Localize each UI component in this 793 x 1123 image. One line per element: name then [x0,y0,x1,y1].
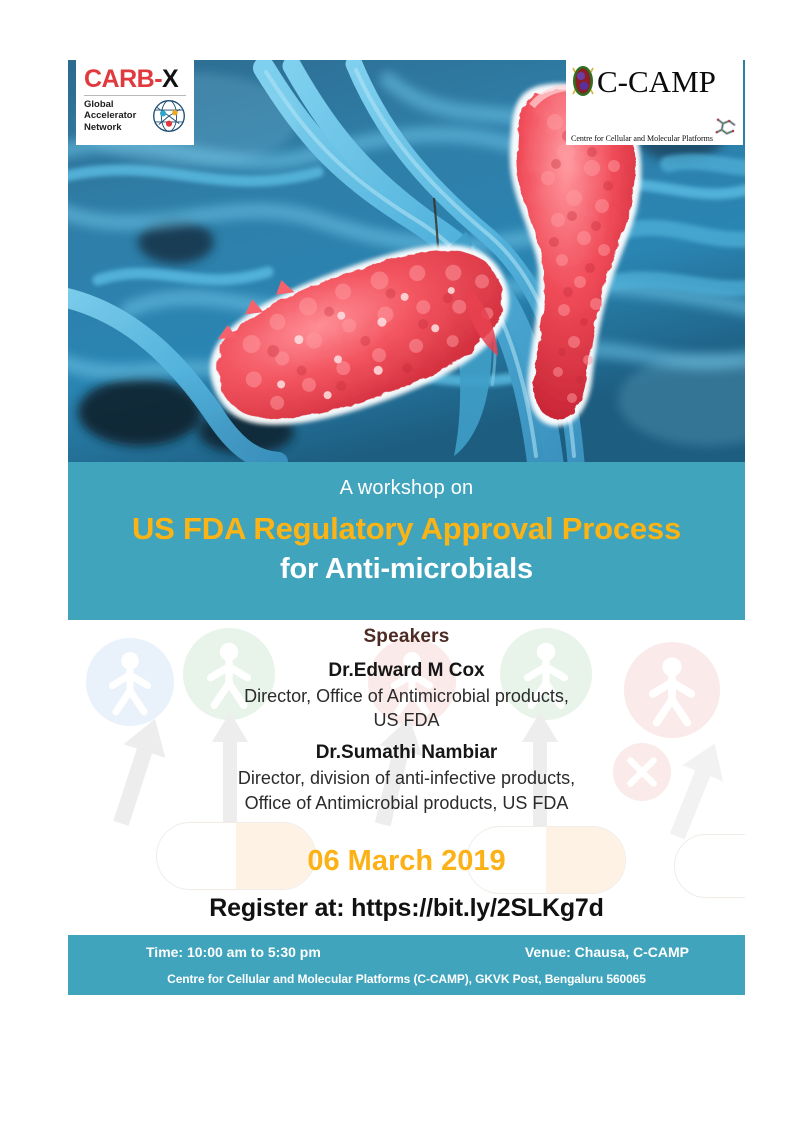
speaker-affiliation-line: Director, division of anti-infective pro… [68,766,745,791]
banner-title-main: US FDA Regulatory Approval Process [68,511,745,548]
carbx-tagline-line-2: Accelerator [84,110,136,121]
title-banner: A workshop on US FDA Regulatory Approval… [68,462,745,620]
speaker-entry: Dr.Sumathi Nambiar Director, division of… [68,740,745,815]
speaker-name: Dr.Sumathi Nambiar [68,740,745,766]
carbx-divider [84,95,186,96]
ccamp-wordmark: C-CAMP [597,66,716,97]
speakers-section: Speakers Dr.Edward M Cox Director, Offic… [68,626,745,816]
speaker-name: Dr.Edward M Cox [68,658,745,684]
speakers-heading: Speakers [68,626,745,648]
banner-title-sub: for Anti-microbials [68,551,745,587]
cell-micrograph-icon [571,64,595,98]
footer-address: Centre for Cellular and Molecular Platfo… [96,972,717,986]
carbx-logo: CARB-X Global Accelerator Network [76,60,194,145]
event-date: 06 March 2019 [68,845,745,878]
registration-link[interactable]: Register at: https://bit.ly/2SLKg7d [68,894,745,923]
carbx-wordmark-accent: X [162,65,178,93]
ccamp-subtitle: Centre for Cellular and Molecular Platfo… [571,135,713,143]
footer-venue: Venue: Chausa, C-CAMP [525,944,689,960]
ccamp-logo: C-CAMP Centre for Cellular and Molecular… [566,60,743,145]
banner-kicker: A workshop on [68,476,745,500]
workshop-poster: CARB-X Global Accelerator Network [0,0,793,1123]
footer-bar: Time: 10:00 am to 5:30 pm Venue: Chausa,… [68,935,745,995]
carbx-wordmark-main: CARB- [84,65,162,93]
speaker-entry: Dr.Edward M Cox Director, Office of Anti… [68,658,745,733]
speaker-affiliation-line: US FDA [68,708,745,733]
carbx-wordmark: CARB-X [84,67,186,92]
molecule-structure-icon [713,109,738,143]
carbx-tagline-line-3: Network [84,122,136,133]
network-globe-icon [152,99,186,133]
footer-time: Time: 10:00 am to 5:30 pm [146,944,321,960]
speaker-affiliation-line: Director, Office of Antimicrobial produc… [68,684,745,709]
carbx-tagline: Global Accelerator Network [84,99,136,133]
speaker-affiliation-line: Office of Antimicrobial products, US FDA [68,791,745,816]
carbx-tagline-line-1: Global [84,99,136,110]
